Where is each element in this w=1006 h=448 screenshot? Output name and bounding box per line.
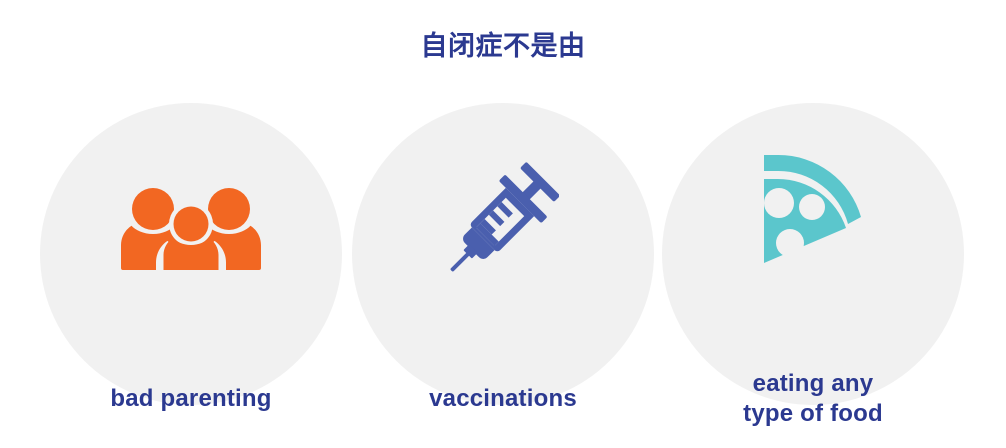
myth-card-label: eating any type of food <box>662 369 964 429</box>
myth-card-vaccinations[interactable]: vaccinations <box>352 103 654 405</box>
myth-card-label-line: type of food <box>662 399 964 429</box>
pizza-slice-icon <box>662 147 964 271</box>
myth-card-label: bad parenting <box>40 384 342 414</box>
group-of-people-icon <box>40 187 342 271</box>
myth-card-label-line: eating any <box>662 369 964 399</box>
cause-myth-circle-row: bad parenting <box>40 103 966 405</box>
syringe-icon <box>352 159 654 279</box>
infographic-root: 自闭症不是由 <box>0 0 1006 448</box>
myth-card-label-line: bad parenting <box>40 384 342 414</box>
myth-card-label-line: vaccinations <box>352 384 654 414</box>
myth-card-label: vaccinations <box>352 384 654 414</box>
page-title: 自闭症不是由 <box>0 30 1006 62</box>
myth-card-eating-any-food[interactable]: eating any type of food <box>662 103 964 405</box>
myth-card-bad-parenting[interactable]: bad parenting <box>40 103 342 405</box>
